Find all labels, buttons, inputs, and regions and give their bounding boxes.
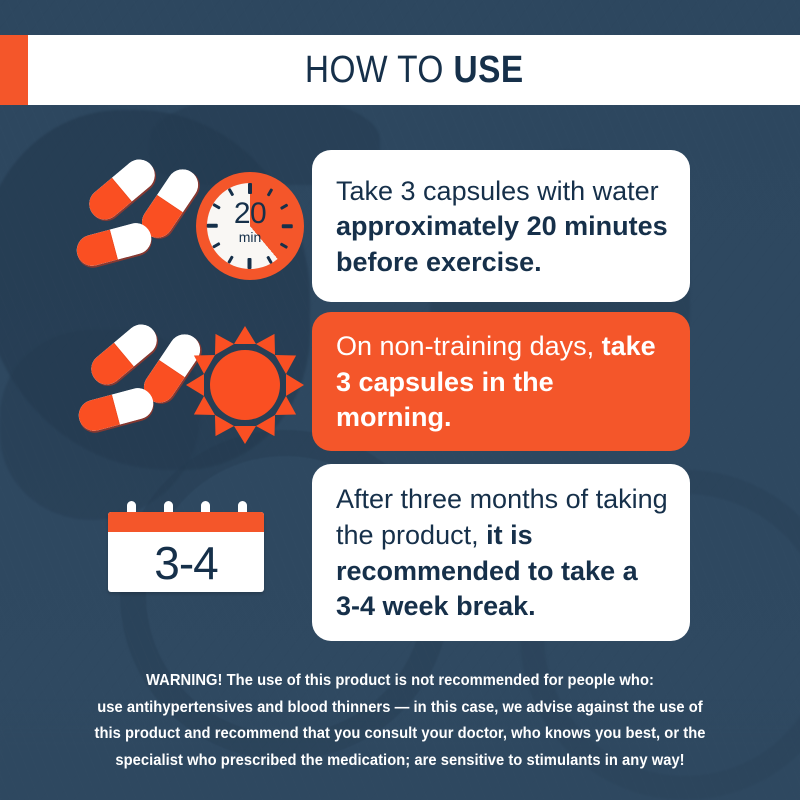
step-card-2: On non-training days, take 3 capsules in… [312,312,690,451]
step-card-1-text: Take 3 capsules with water approximately… [336,174,668,281]
page-title-regular: HOW TO [305,49,454,91]
capsules-icon [82,166,202,276]
capsule-pill [75,385,156,435]
sun-ray [275,396,302,424]
header-accent-block [0,35,28,105]
timer-tick [266,256,272,264]
step-card-1: Take 3 capsules with water approximately… [312,150,690,302]
warning-line-2: use antihypertensives and blood thinners… [49,695,752,722]
warning-text: WARNING! The use of this product is not … [49,668,752,775]
timer-tick [227,188,233,196]
header-plate: HOW TO USE [28,35,800,105]
sun-ray [186,374,204,396]
sun-ray [206,415,234,442]
sun-ray [286,374,304,396]
calendar-icon: 3-4 [108,512,264,592]
calendar-value: 3-4 [108,534,264,592]
infographic-page: HOW TO USE 20 min Take 3 capsules with w… [0,0,800,800]
timer-icon: 20 min [196,172,304,280]
warning-line-3: this product and recommend that you cons… [49,721,752,748]
timer-tick [227,256,233,264]
calendar-header-band [108,512,264,532]
timer-unit: min [196,230,304,244]
sun-icon [186,326,304,444]
page-title: HOW TO USE [305,49,524,92]
page-title-bold: USE [453,49,523,91]
sun-ray [275,346,302,374]
step-1-text-regular: Take 3 capsules with water [336,176,659,206]
warning-line-4: specialist who prescribed the medication… [49,748,752,775]
timer-tick [266,188,272,196]
sun-core [210,350,280,420]
sun-ray [206,328,234,355]
header-bar: HOW TO USE [0,35,800,105]
timer-value: 20 [196,199,304,229]
step-1-text-bold: approximately 20 minutes before exercise… [336,211,668,277]
step-card-3-text: After three months of taking the product… [336,482,668,625]
capsule-pill [73,220,154,270]
step-2-text-regular: On non-training days, [336,331,602,361]
step-card-2-text: On non-training days, take 3 capsules in… [336,329,668,436]
timer-tick [248,258,252,269]
step-card-3: After three months of taking the product… [312,464,690,641]
sun-ray [234,326,256,344]
timer-tick [248,183,252,194]
sun-ray [234,426,256,444]
sun-ray [256,415,284,442]
sun-ray [188,346,215,374]
warning-line-1: WARNING! The use of this product is not … [49,668,752,695]
